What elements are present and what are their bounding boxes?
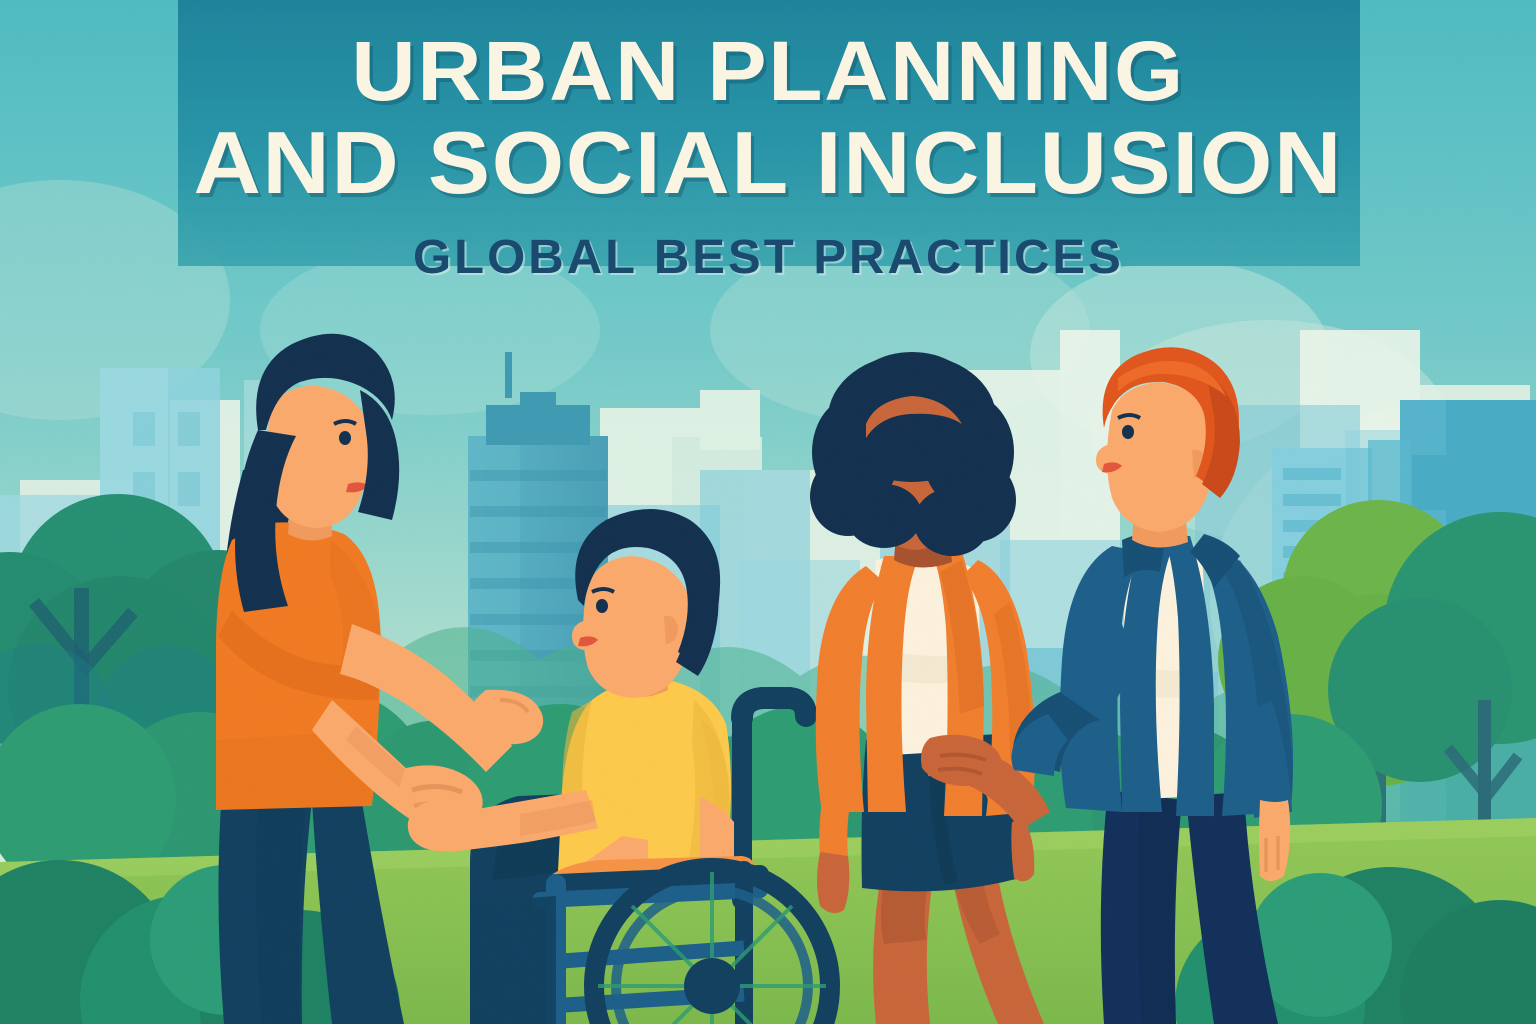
- poster-title-line-1: URBAN PLANNING: [351, 30, 1184, 113]
- poster-illustration: URBAN PLANNING AND SOCIAL INCLUSION GLOB…: [0, 0, 1536, 1024]
- poster-title-line-2: AND SOCIAL INCLUSION: [193, 119, 1342, 206]
- title-block: URBAN PLANNING AND SOCIAL INCLUSION GLOB…: [0, 0, 1536, 350]
- poster-subtitle: GLOBAL BEST PRACTICES: [413, 230, 1124, 285]
